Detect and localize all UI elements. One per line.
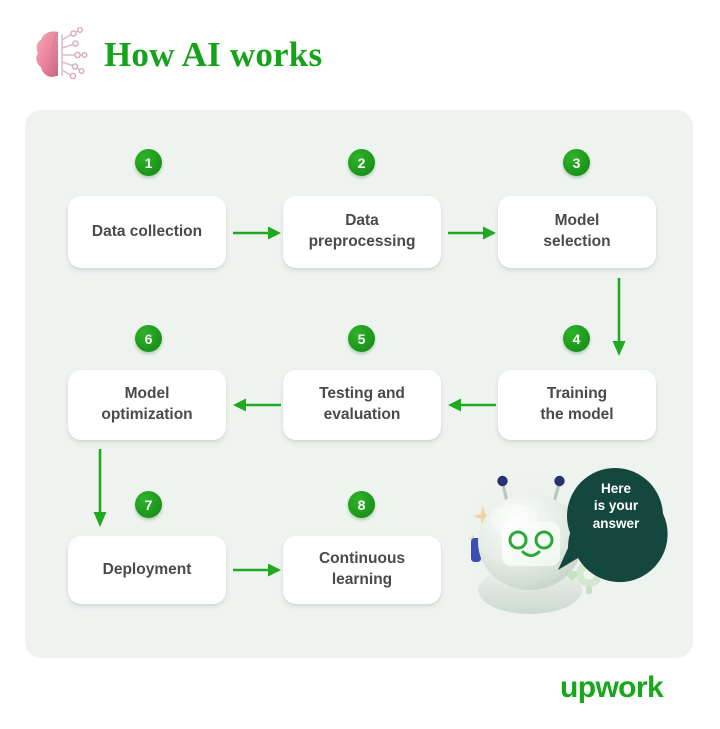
step-label-2-line2: preprocessing [309,233,416,250]
ai-robot-illustration: Here is your answer [462,462,672,622]
step-badge-1: 1 [135,149,162,176]
arrow-7-to-8 [232,559,282,581]
step-box-deployment[interactable]: Deployment [68,536,226,604]
bubble-line-3: answer [593,516,640,531]
step-box-continuous-learning[interactable]: Continuous learning [283,536,441,604]
step-badge-5: 5 [348,325,375,352]
speech-bubble-text: Here is your answer [548,480,684,532]
step-label-5-line2: evaluation [324,406,401,423]
arrow-5-to-6 [232,394,282,416]
step-label-2-line1: Data [345,212,379,229]
step-label-3-line2: selection [543,233,610,250]
arrow-1-to-2 [232,222,282,244]
step-label-8-line1: Continuous [319,550,405,567]
step-label-6-line2: optimization [101,406,192,423]
step-badge-8: 8 [348,491,375,518]
step-label-5-line1: Testing and [319,385,405,402]
step-label-1: Data collection [92,222,202,243]
step-badge-4: 4 [563,325,590,352]
step-label-7: Deployment [103,560,192,581]
step-label-4-line1: Training [547,385,607,402]
arrow-6-to-7 [89,448,111,528]
step-box-model-optimization[interactable]: Model optimization [68,370,226,440]
step-badge-7: 7 [135,491,162,518]
step-label-8-line2: learning [332,571,392,588]
step-badge-6: 6 [135,325,162,352]
arrow-3-to-4 [608,277,630,357]
step-box-testing-and-evaluation[interactable]: Testing and evaluation [283,370,441,440]
step-box-data-collection[interactable]: Data collection [68,196,226,268]
infographic-canvas: How AI works 1 Data collection 2 Data pr… [0,0,720,729]
page-title: How AI works [104,35,322,75]
step-label-3-line1: Model [555,212,600,229]
step-box-model-selection[interactable]: Model selection [498,196,656,268]
bubble-line-2: is your [594,498,638,513]
step-badge-2: 2 [348,149,375,176]
step-box-training-the-model[interactable]: Training the model [498,370,656,440]
step-box-data-preprocessing[interactable]: Data preprocessing [283,196,441,268]
step-badge-3: 3 [563,149,590,176]
brain-ai-icon [34,24,90,86]
header: How AI works [34,24,322,86]
arrow-4-to-5 [447,394,497,416]
arrow-2-to-3 [447,222,497,244]
step-label-4-line2: the model [540,406,613,423]
upwork-logo: upwork [560,673,663,703]
step-label-6-line1: Model [125,385,170,402]
bubble-line-1: Here [601,481,631,496]
